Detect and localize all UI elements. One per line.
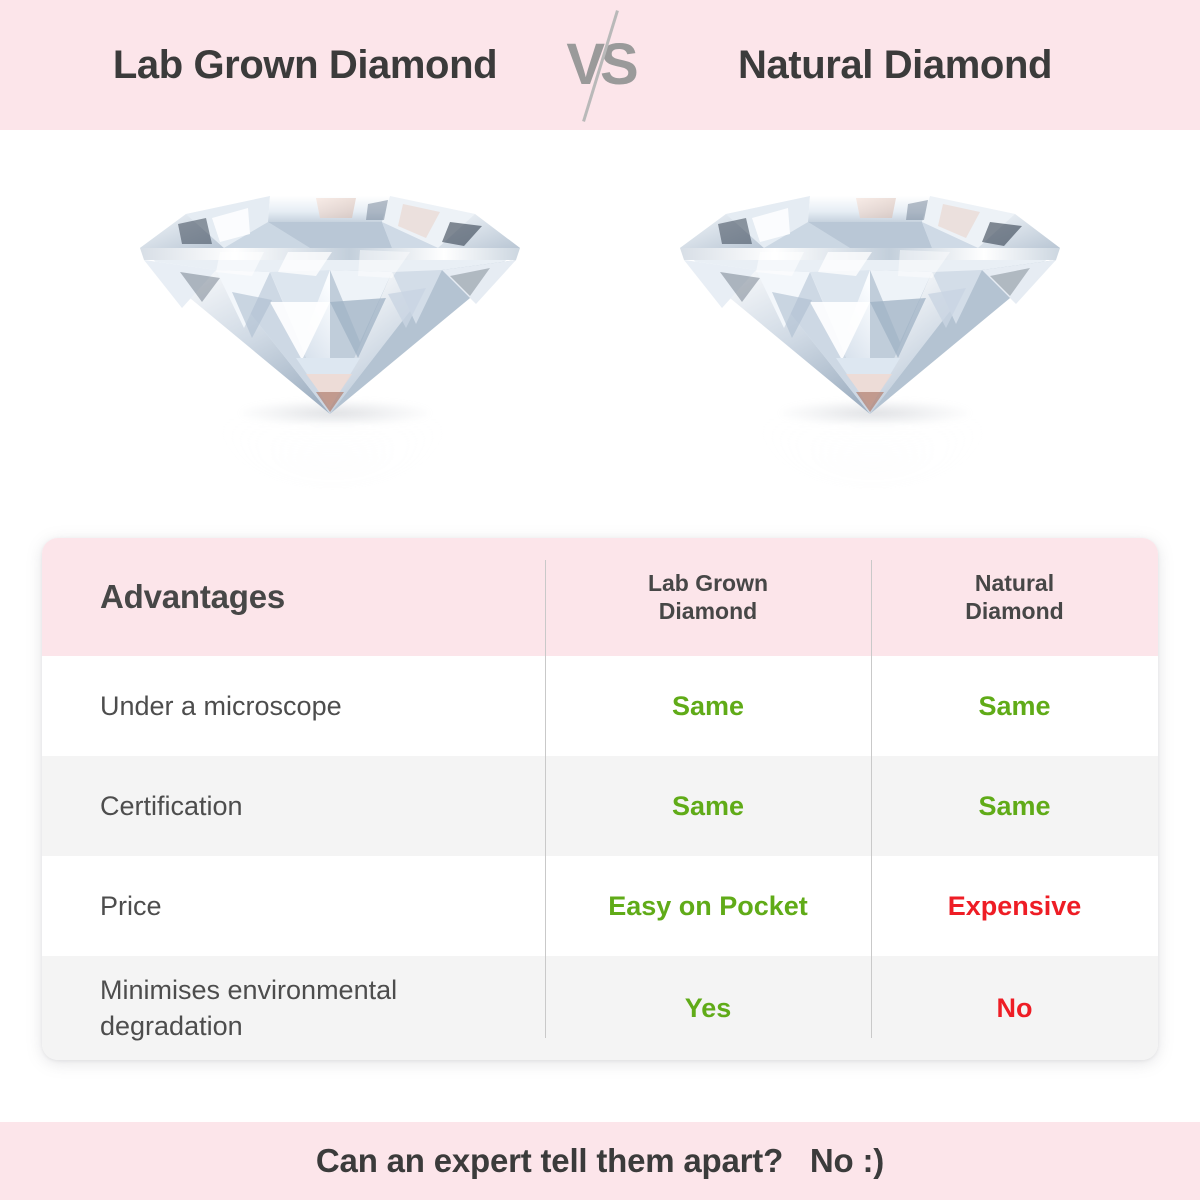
table-body: Under a microscope Same Same Certificati… bbox=[42, 656, 1158, 1060]
comparison-table: Advantages Lab Grown Diamond Natural Dia… bbox=[42, 538, 1158, 1060]
row-feature: Minimises environmental degradation bbox=[42, 956, 545, 1060]
row-lab-value: Same bbox=[545, 756, 871, 856]
right-product-title: Natural Diamond bbox=[660, 43, 1130, 88]
row-feature: Under a microscope bbox=[42, 656, 545, 756]
header-lab-line2: Diamond bbox=[659, 598, 757, 624]
row-natural-value: Expensive bbox=[871, 856, 1158, 956]
row-natural-value: Same bbox=[871, 756, 1158, 856]
comparison-table-card: Advantages Lab Grown Diamond Natural Dia… bbox=[42, 538, 1158, 1060]
column-divider-1 bbox=[545, 560, 546, 1038]
expert-question-text: Can an expert tell them apart? No :) bbox=[316, 1142, 884, 1180]
comparison-infographic: Lab Grown Diamond VS Natural Diamond bbox=[0, 0, 1200, 1200]
row-feature: Certification bbox=[42, 756, 545, 856]
column-divider-2 bbox=[871, 560, 872, 1038]
header-advantages: Advantages bbox=[42, 538, 545, 656]
row-feature: Price bbox=[42, 856, 545, 956]
diamond-illustration bbox=[120, 152, 540, 452]
top-banner: Lab Grown Diamond VS Natural Diamond bbox=[0, 0, 1200, 130]
bottom-banner: Can an expert tell them apart? No :) bbox=[0, 1122, 1200, 1200]
table-row: Under a microscope Same Same bbox=[42, 656, 1158, 756]
header-natural-line1: Natural bbox=[975, 570, 1054, 596]
header-natural-diamond: Natural Diamond bbox=[871, 538, 1158, 656]
diamond-illustration bbox=[660, 152, 1080, 452]
diamond-image-stage bbox=[0, 130, 1200, 530]
table-head: Advantages Lab Grown Diamond Natural Dia… bbox=[42, 538, 1158, 656]
row-lab-value: Easy on Pocket bbox=[545, 856, 871, 956]
table-row: Price Easy on Pocket Expensive bbox=[42, 856, 1158, 956]
header-natural-line2: Diamond bbox=[965, 598, 1063, 624]
left-product-title: Lab Grown Diamond bbox=[70, 43, 540, 88]
row-natural-value: Same bbox=[871, 656, 1158, 756]
row-lab-value: Same bbox=[545, 656, 871, 756]
natural-diamond-image bbox=[660, 152, 1080, 512]
header-lab-grown-diamond: Lab Grown Diamond bbox=[545, 538, 871, 656]
lab-grown-diamond-image bbox=[120, 152, 540, 512]
table-row: Certification Same Same bbox=[42, 756, 1158, 856]
header-lab-line1: Lab Grown bbox=[648, 570, 768, 596]
table-row: Minimises environmental degradation Yes … bbox=[42, 956, 1158, 1060]
row-natural-value: No bbox=[871, 956, 1158, 1060]
vs-badge: VS bbox=[540, 0, 660, 130]
row-lab-value: Yes bbox=[545, 956, 871, 1060]
table-header-row: Advantages Lab Grown Diamond Natural Dia… bbox=[42, 538, 1158, 656]
